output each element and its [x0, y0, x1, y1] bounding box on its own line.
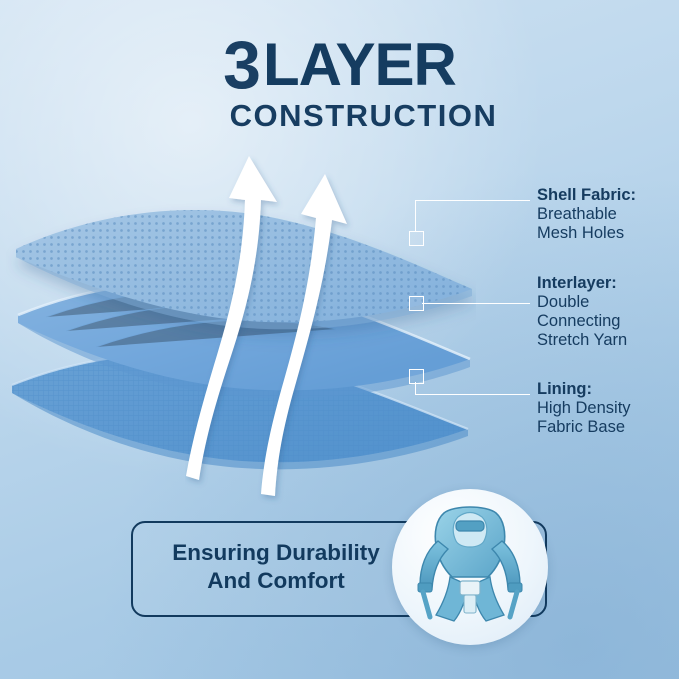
callout-interlayer-line3: Stretch Yarn — [537, 331, 627, 350]
interlayer-leader — [422, 303, 530, 304]
layer-illustration — [6, 185, 476, 495]
title-row: 3 LAYER — [0, 36, 679, 96]
callout-shell-fabric: Shell Fabric: Breathable Mesh Holes — [537, 186, 636, 243]
infographic-canvas: 3 LAYER CONSTRUCTION — [0, 0, 679, 679]
callout-interlayer-title: Interlayer: — [537, 274, 627, 293]
callout-shell-fabric-title: Shell Fabric: — [537, 186, 636, 205]
lining-leader-vertical — [415, 382, 416, 394]
callout-interlayer-line1: Double — [537, 293, 627, 312]
callout-lining-title: Lining: — [537, 380, 631, 399]
title-main: LAYER — [263, 36, 456, 93]
shell-fabric-marker — [409, 231, 424, 246]
callout-lining-line1: High Density — [537, 399, 631, 418]
callout-lining: Lining: High Density Fabric Base — [537, 380, 631, 437]
mesh-top-layer — [6, 185, 476, 345]
callout-lining-line2: Fabric Base — [537, 418, 631, 437]
callout-shell-fabric-line2: Mesh Holes — [537, 224, 636, 243]
lining-leader — [415, 394, 530, 395]
callout-interlayer-line2: Connecting — [537, 312, 627, 331]
shell-fabric-leader — [415, 200, 530, 201]
page-title: 3 LAYER CONSTRUCTION — [0, 36, 679, 134]
lining-marker — [409, 369, 424, 384]
product-image-harness — [392, 489, 548, 645]
callout-shell-fabric-line1: Breathable — [537, 205, 636, 224]
banner-text: Ensuring Durability And Comfort — [151, 539, 401, 596]
banner-line-2: And Comfort — [151, 567, 401, 595]
callout-interlayer: Interlayer: Double Connecting Stretch Ya… — [537, 274, 627, 351]
shell-fabric-leader-vertical — [415, 200, 416, 232]
title-number: 3 — [223, 36, 259, 96]
banner-line-1: Ensuring Durability — [151, 539, 401, 567]
title-subtitle: CONSTRUCTION — [0, 98, 679, 134]
